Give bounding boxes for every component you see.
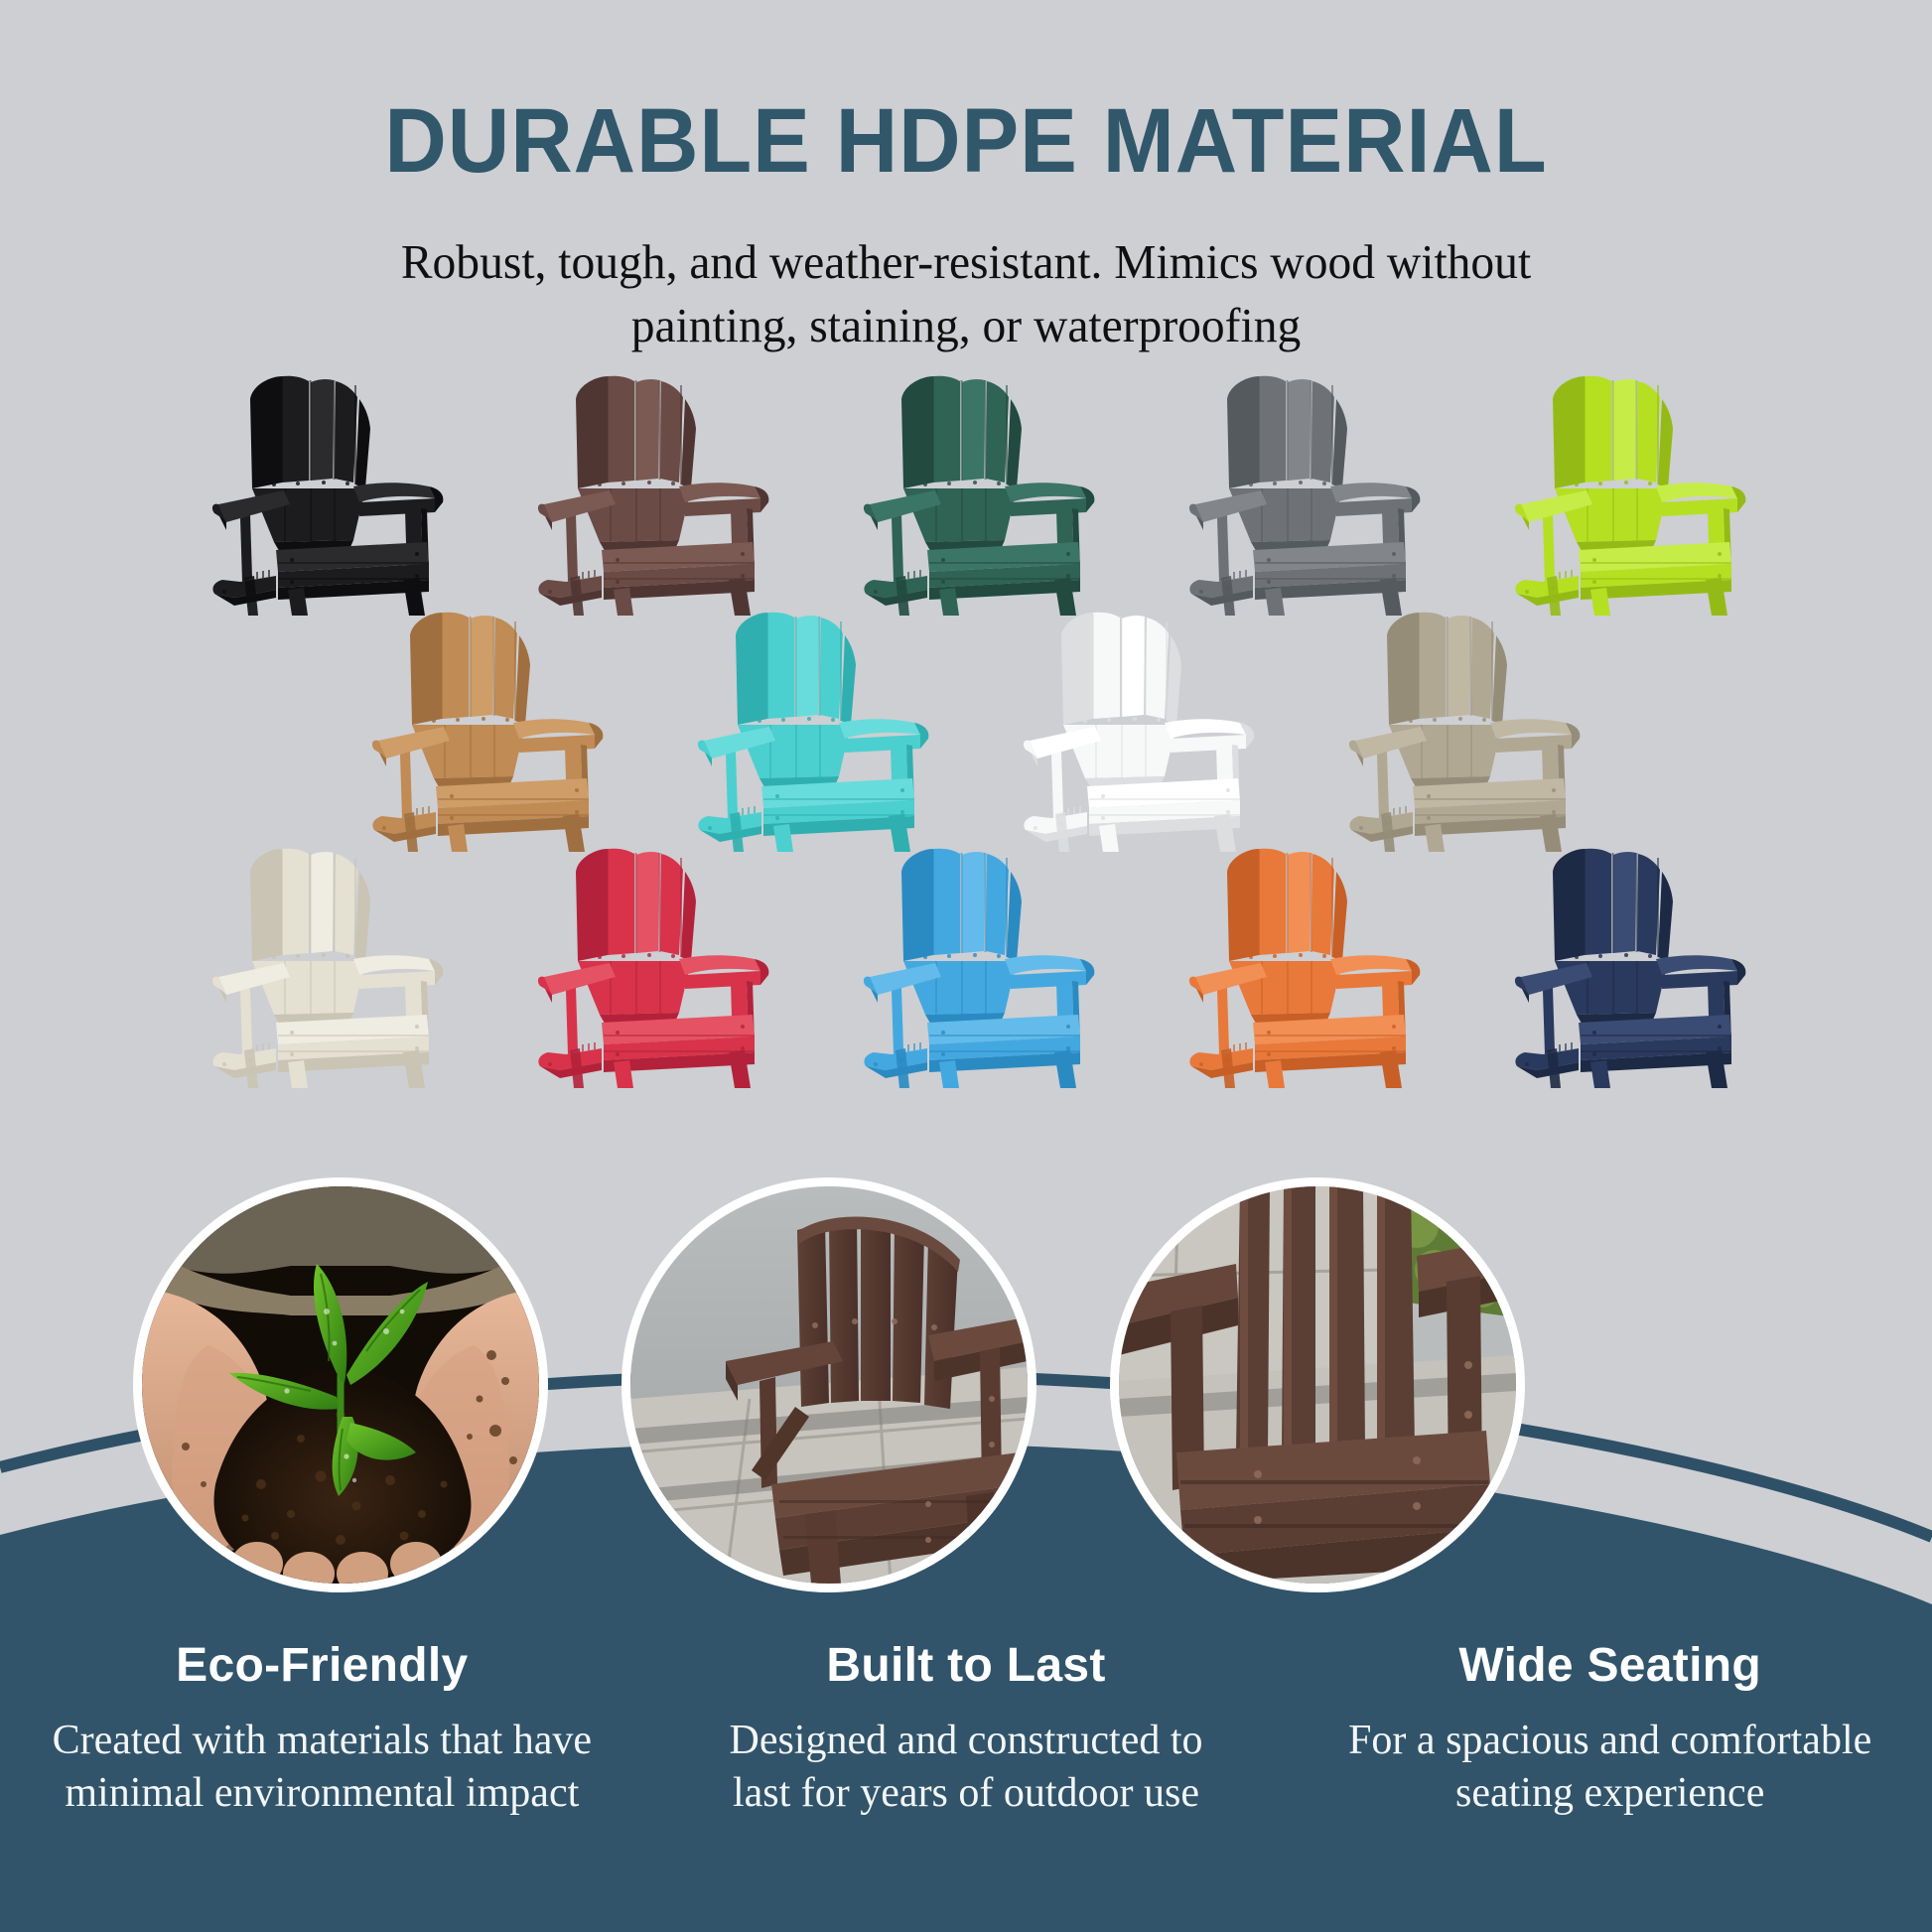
feature-title: Eco-Friendly bbox=[14, 1638, 630, 1693]
page-title: DURABLE HDPE MATERIAL bbox=[58, 95, 1873, 187]
chair-swatch-dark-green[interactable] bbox=[830, 365, 1108, 616]
chair-row-1 bbox=[6, 365, 1932, 616]
chair-swatch-red[interactable] bbox=[504, 838, 782, 1088]
hands-holding-soil-seedling-photo bbox=[142, 1186, 539, 1584]
chair-swatch-lime-green[interactable] bbox=[1481, 365, 1759, 616]
feature-caption-built-to-last: Built to Last Designed and constructed t… bbox=[644, 1638, 1289, 1820]
subtitle-line-2: painting, staining, or waterproofing bbox=[631, 298, 1302, 352]
chair-swatch-ivory-cream[interactable] bbox=[179, 838, 457, 1088]
feature-image-eco-friendly bbox=[133, 1177, 548, 1592]
chair-swatch-dark-brown[interactable] bbox=[504, 365, 782, 616]
chair-swatch-white[interactable] bbox=[990, 602, 1268, 852]
chair-row-2 bbox=[0, 602, 1932, 852]
infographic-canvas: DURABLE HDPE MATERIAL Robust, tough, and… bbox=[0, 0, 1932, 1932]
feature-body-line-1: Designed and constructed to bbox=[729, 1718, 1202, 1763]
feature-caption-wide-seating: Wide Seating For a spacious and comforta… bbox=[1288, 1638, 1932, 1820]
brown-adirondack-chair-patio-photo bbox=[630, 1186, 1028, 1584]
feature-body: Created with materials that have minimal… bbox=[14, 1715, 630, 1820]
page-subtitle: Robust, tough, and weather-resistant. Mi… bbox=[321, 230, 1611, 356]
feature-body-line-1: Created with materials that have bbox=[53, 1718, 592, 1763]
chair-swatch-khaki-taupe[interactable] bbox=[1315, 602, 1593, 852]
chair-color-grid bbox=[0, 365, 1932, 1088]
chair-swatch-orange[interactable] bbox=[1156, 838, 1434, 1088]
feature-body-line-2: minimal environmental impact bbox=[65, 1770, 579, 1816]
chair-swatch-light-blue[interactable] bbox=[830, 838, 1108, 1088]
chair-swatch-black[interactable] bbox=[179, 365, 457, 616]
feature-body-line-2: last for years of outdoor use bbox=[733, 1770, 1199, 1816]
feature-caption-row: Eco-Friendly Created with materials that… bbox=[0, 1638, 1932, 1820]
feature-caption-eco-friendly: Eco-Friendly Created with materials that… bbox=[0, 1638, 644, 1820]
chair-swatch-navy-blue[interactable] bbox=[1481, 838, 1759, 1088]
brown-chair-wide-seat-closeup-photo bbox=[1119, 1186, 1516, 1584]
feature-image-built-to-last bbox=[621, 1177, 1036, 1592]
chair-row-3 bbox=[6, 838, 1932, 1088]
subtitle-line-1: Robust, tough, and weather-resistant. Mi… bbox=[401, 234, 1531, 289]
feature-circle-row bbox=[0, 1177, 1932, 1594]
chair-swatch-teak-tan[interactable] bbox=[339, 602, 617, 852]
header-block: DURABLE HDPE MATERIAL Robust, tough, and… bbox=[0, 95, 1932, 356]
feature-body: Designed and constructed to last for yea… bbox=[658, 1715, 1275, 1820]
chair-swatch-gray[interactable] bbox=[1156, 365, 1434, 616]
feature-title: Built to Last bbox=[658, 1638, 1275, 1693]
feature-body-line-1: For a spacious and comfortable bbox=[1348, 1718, 1871, 1763]
feature-body: For a spacious and comfortable seating e… bbox=[1302, 1715, 1918, 1820]
feature-body-line-2: seating experience bbox=[1455, 1770, 1764, 1816]
feature-image-wide-seating bbox=[1110, 1177, 1525, 1592]
feature-title: Wide Seating bbox=[1302, 1638, 1918, 1693]
chair-swatch-turquoise[interactable] bbox=[664, 602, 942, 852]
